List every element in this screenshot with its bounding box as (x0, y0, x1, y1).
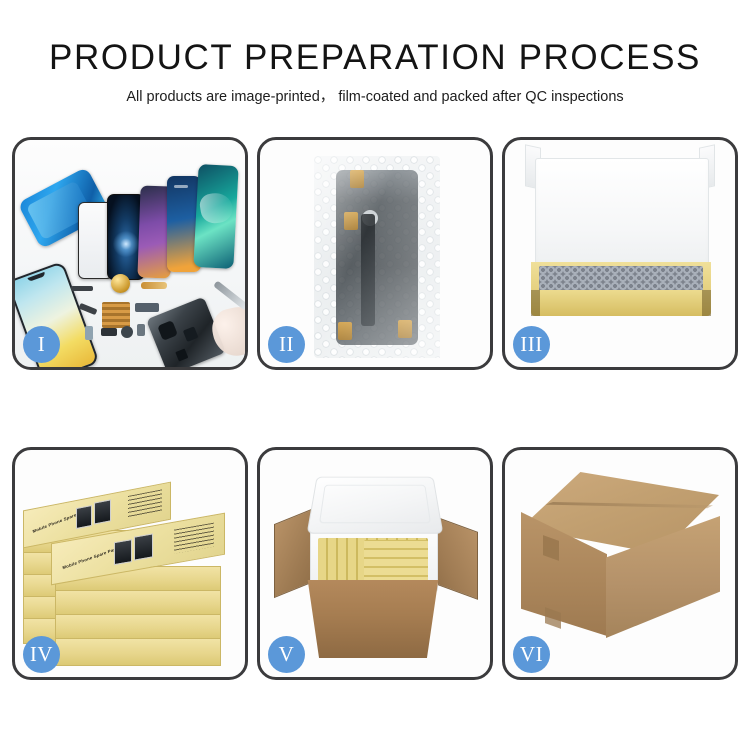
page-subtitle: All products are image-printed， film-coa… (0, 88, 750, 106)
gold-component-icon (111, 274, 130, 293)
connector-part (135, 303, 159, 312)
box-print-label-front: Mobile Phone Spare Parts (62, 545, 120, 570)
bubble-wrap-bag (314, 156, 440, 358)
process-step-panel-3[interactable]: III (502, 137, 738, 370)
teal-swirl-phone (193, 164, 238, 269)
stacked-box-front-4 (55, 638, 221, 666)
white-box-lid (535, 158, 709, 276)
stacked-box-front-2 (55, 590, 221, 616)
step-badge-4: IV (23, 636, 60, 673)
tape-piece-top (350, 170, 364, 188)
tape-piece-bottom-right (398, 320, 412, 338)
styrofoam-lid (307, 477, 444, 534)
process-step-panel-5[interactable]: V (257, 447, 493, 680)
yellow-boxes-inside-row-2 (364, 540, 428, 584)
camera-module-part (85, 326, 93, 340)
process-step-panel-1[interactable]: I (12, 137, 248, 370)
wrapped-display-part (336, 170, 418, 345)
process-step-panel-4[interactable]: Mobile Phone Spare Parts Mobile Phone Sp… (12, 447, 248, 680)
process-step-grid: I II III (12, 137, 738, 680)
process-step-panel-6[interactable]: VI (502, 447, 738, 680)
kraft-box-front-wall (531, 290, 711, 316)
button-part (137, 324, 145, 336)
step-badge-6: VI (513, 636, 550, 673)
step-badge-1: I (23, 326, 60, 363)
box-stack: Mobile Phone Spare Parts Mobile Phone Sp… (21, 470, 241, 666)
flex-cable-part (141, 282, 167, 289)
box-print-thumb-front-1 (114, 539, 132, 565)
stacked-box-front-3 (55, 614, 221, 640)
tape-piece-middle (344, 212, 358, 230)
step-badge-5: V (268, 636, 305, 673)
wrapped-flex-strip (361, 214, 375, 326)
box-print-thumb-rear-2 (94, 499, 111, 524)
tape-piece-bottom-left (338, 322, 352, 340)
chip-grid-part (102, 302, 130, 328)
box-print-thumb-front-2 (134, 533, 153, 560)
box-print-spec-lines-front (174, 523, 214, 554)
vibrator-part (101, 328, 117, 336)
page-title: PRODUCT PREPARATION PROCESS (0, 38, 750, 78)
step-badge-3: III (513, 326, 550, 363)
step-badge-2: II (268, 326, 305, 363)
box-print-spec-lines-rear (128, 489, 162, 518)
box-print-thumb-rear-1 (76, 505, 92, 529)
box-corner-left (531, 290, 540, 316)
box-corner-right (702, 290, 711, 316)
header: PRODUCT PREPARATION PROCESS All products… (0, 0, 750, 106)
small-component-bar (71, 286, 93, 291)
carton-body (302, 580, 444, 658)
process-step-panel-2[interactable]: II (257, 137, 493, 370)
speaker-part (121, 326, 133, 338)
